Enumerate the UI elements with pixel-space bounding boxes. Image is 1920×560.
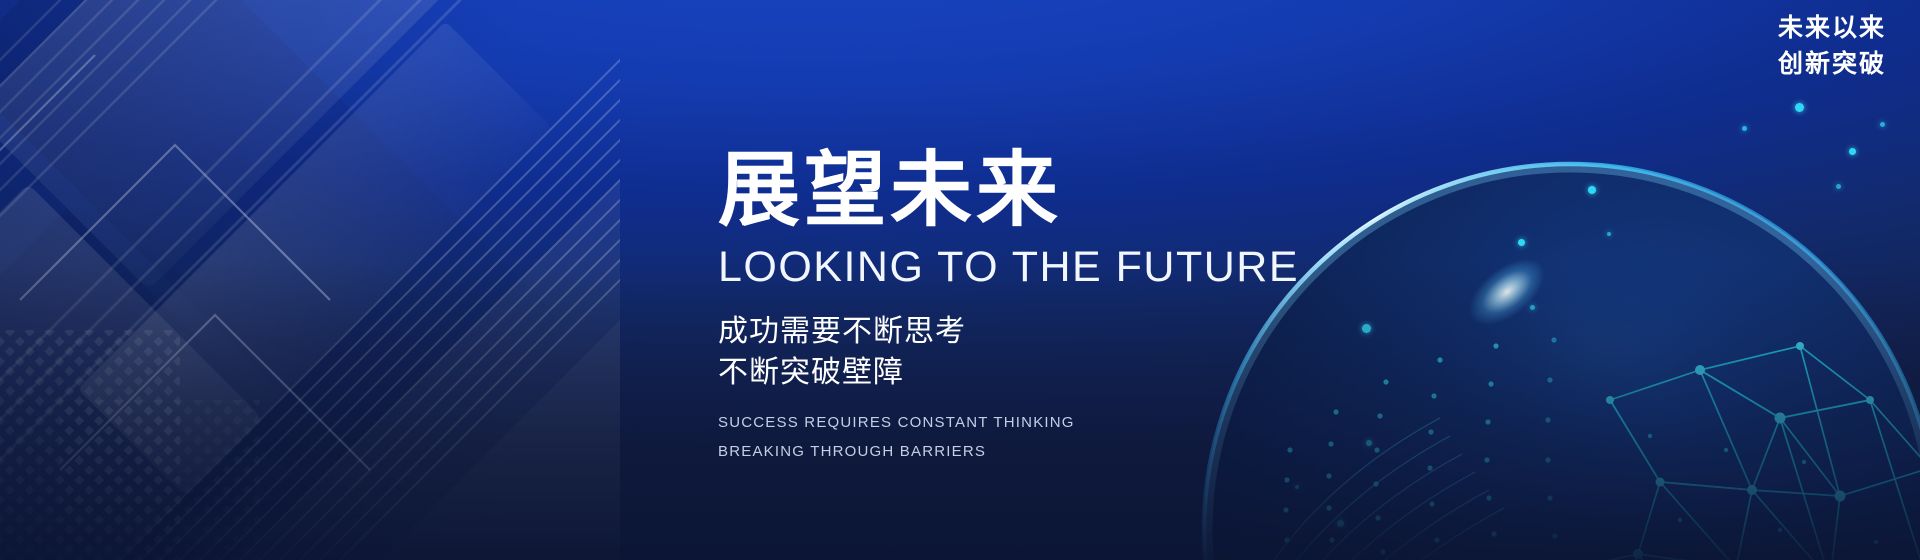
particle-dot [1836, 184, 1841, 189]
particle-dot [1880, 122, 1885, 127]
tagline-en-line-1: SUCCESS REQUIRES CONSTANT THINKING [718, 408, 1478, 437]
tagline-en-line-2: BREAKING THROUGH BARRIERS [718, 437, 1478, 466]
corner-slogan-line-2: 创新突破 [1778, 46, 1886, 82]
page-subtitle-en: LOOKING TO THE FUTURE [718, 246, 1478, 289]
hero-banner: 未来以来 创新突破 展望未来 LOOKING TO THE FUTURE 成功需… [0, 0, 1920, 560]
tagline-cn-line-1: 成功需要不断思考 [718, 311, 1478, 352]
corner-slogan: 未来以来 创新突破 [1778, 10, 1886, 83]
diagonal-ribbon-pattern [0, 0, 620, 560]
particle-dot [1849, 148, 1856, 155]
tagline-cn: 成功需要不断思考 不断突破壁障 [718, 311, 1478, 394]
corner-slogan-line-1: 未来以来 [1778, 10, 1886, 46]
particle-dot [1742, 126, 1747, 131]
particle-dot [1588, 186, 1596, 194]
page-title: 展望未来 [718, 150, 1478, 232]
particle-dot [1530, 305, 1535, 310]
particle-dot [1295, 485, 1299, 489]
hero-copy-block: 展望未来 LOOKING TO THE FUTURE 成功需要不断思考 不断突破… [718, 150, 1478, 466]
particle-dot [1518, 239, 1525, 246]
tagline-cn-line-2: 不断突破壁障 [718, 352, 1478, 393]
particle-dot [1795, 103, 1804, 112]
particle-dot [1607, 232, 1611, 236]
particle-dot [1337, 520, 1344, 527]
tagline-en: SUCCESS REQUIRES CONSTANT THINKING BREAK… [718, 408, 1478, 467]
